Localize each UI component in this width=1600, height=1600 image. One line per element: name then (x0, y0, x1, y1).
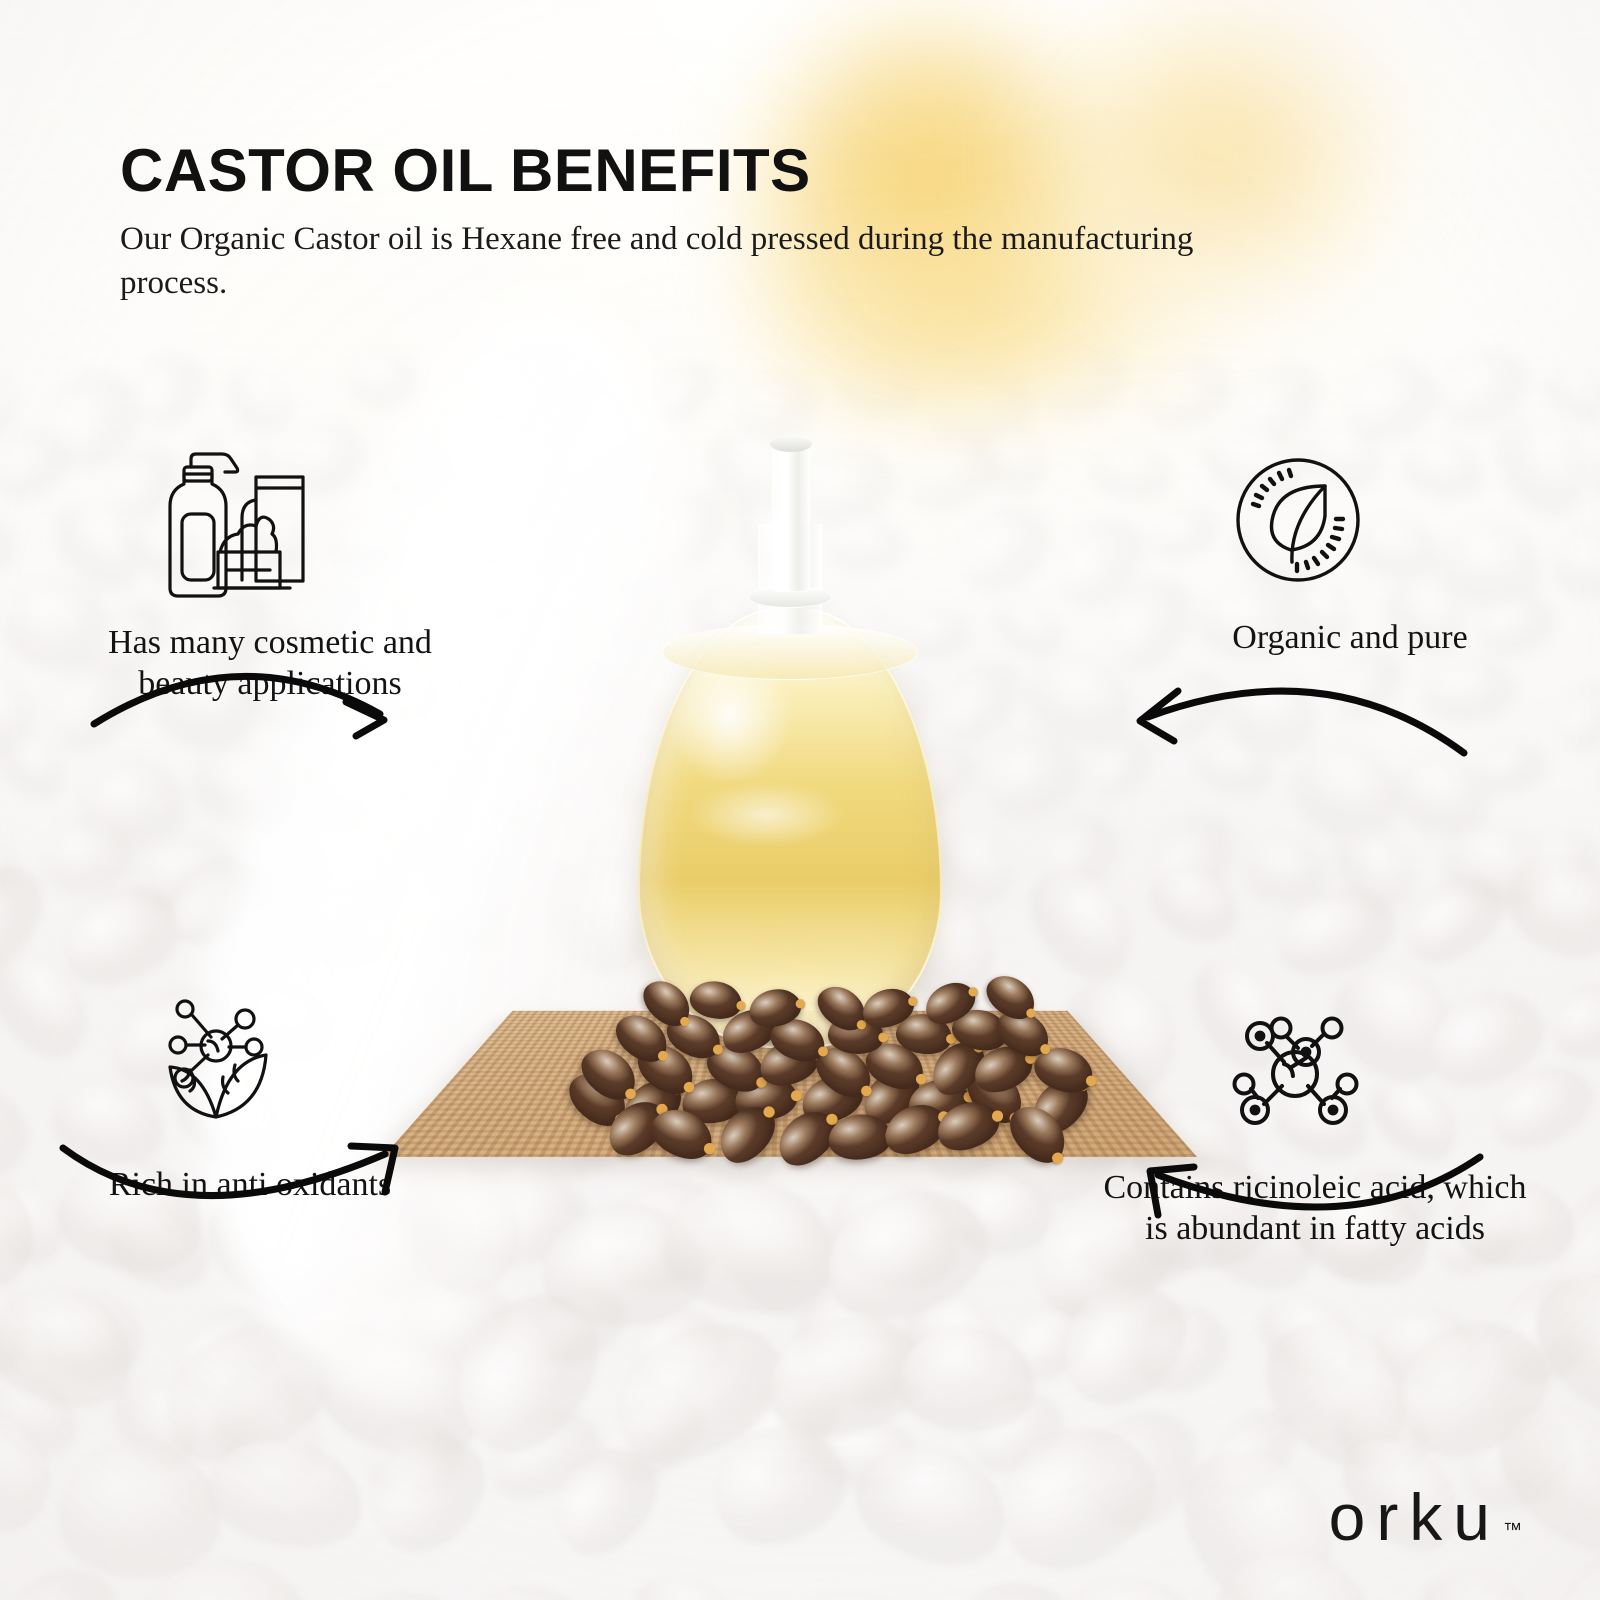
infographic-canvas: CASTOR OIL BENEFITS Our Organic Castor o… (0, 0, 1600, 1600)
curved-arrow-left-up-icon (1120, 1135, 1490, 1255)
molecule-icon (1220, 1000, 1530, 1140)
castor-seed-pile (570, 960, 1090, 1170)
trademark-symbol: ™ (1503, 1520, 1522, 1542)
organic-leaf-badge-icon (1228, 450, 1550, 590)
bottle-stopper (772, 442, 810, 592)
cosmetic-products-icon (144, 440, 480, 605)
product-image (430, 400, 1150, 1230)
curved-arrow-right-up-icon (55, 1130, 415, 1245)
curved-arrow-left-icon (1130, 655, 1470, 770)
header: CASTOR OIL BENEFITS Our Organic Castor o… (120, 140, 1300, 305)
page-subtitle: Our Organic Castor oil is Hexane free an… (120, 218, 1250, 305)
brand-logo-text: orku (1329, 1487, 1501, 1548)
brand-logo: orku ™ (1329, 1487, 1522, 1548)
feature-organic: Organic and pure (1150, 450, 1550, 659)
bottle-stopper-top (770, 436, 812, 452)
antioxidant-leaves-molecule-icon (150, 995, 460, 1125)
curved-arrow-right-icon (88, 640, 418, 745)
bottle-highlight (680, 778, 896, 870)
page-title: CASTOR OIL BENEFITS (120, 140, 1300, 202)
feature-organic-label: Organic and pure (1150, 618, 1550, 659)
